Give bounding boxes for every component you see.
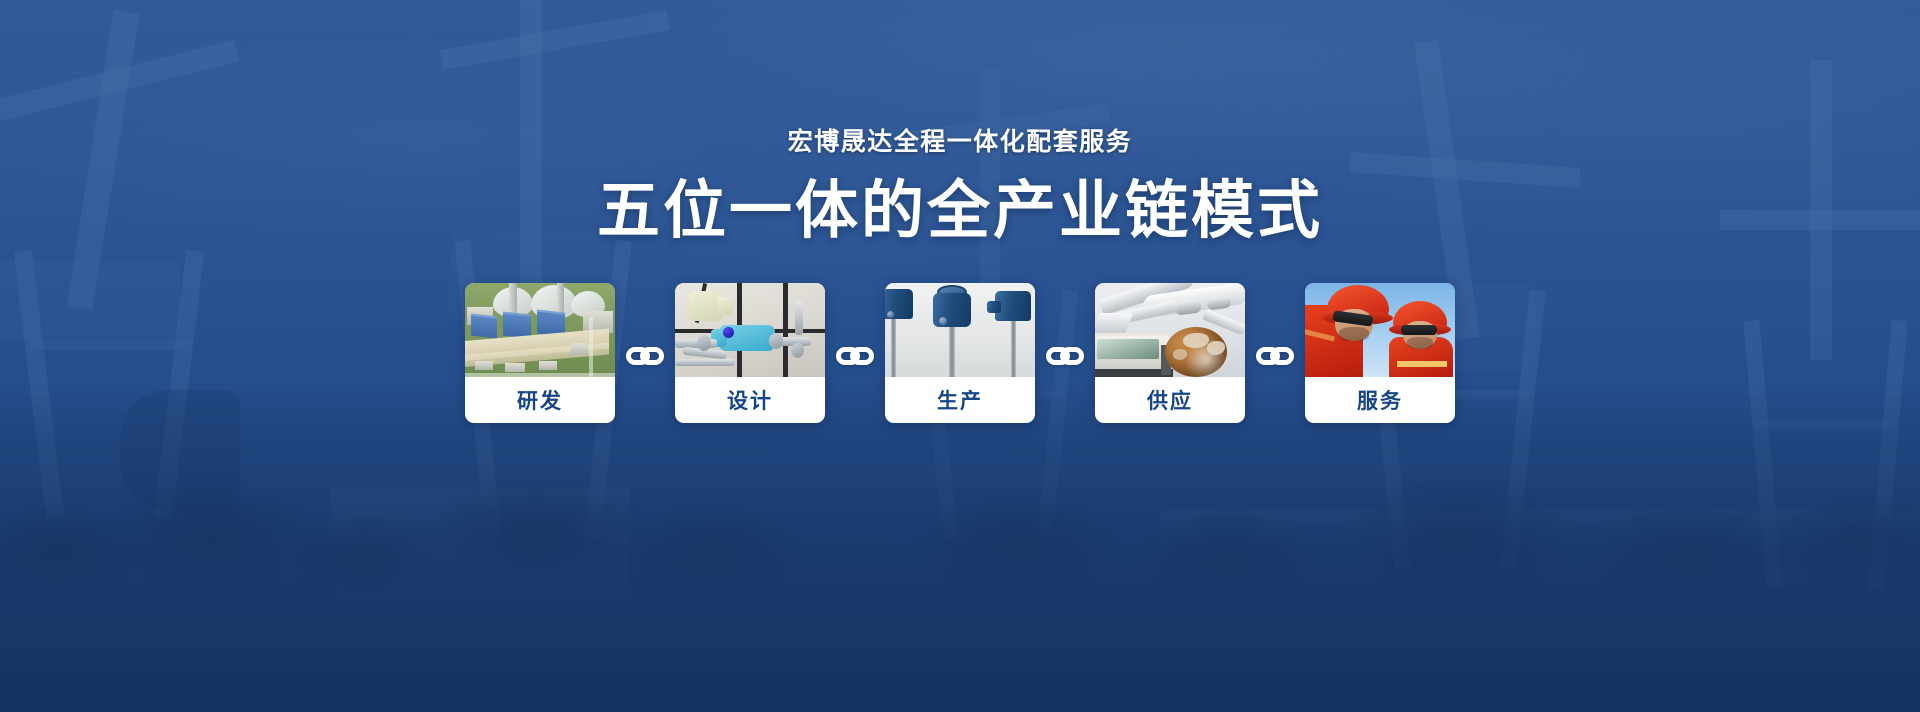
hero-banner: 宏博晟达全程一体化配套服务 五位一体的全产业链模式: [0, 0, 1920, 712]
banner-content: 宏博晟达全程一体化配套服务 五位一体的全产业链模式: [0, 0, 1920, 712]
chain-card-sheji[interactable]: 设计: [675, 283, 825, 423]
chain-card-gongying[interactable]: 供应: [1095, 283, 1245, 423]
field-workers-image: [1305, 283, 1455, 377]
chain-card-yanfa[interactable]: 研发: [465, 283, 615, 423]
chain-card-label: 设计: [675, 377, 825, 423]
chain-link-icon: [1035, 344, 1095, 368]
chain-card-label: 研发: [465, 377, 615, 423]
chain-card-label: 服务: [1305, 377, 1455, 423]
chain-link-icon: [1245, 344, 1305, 368]
cad-rendering-image: [675, 283, 825, 377]
chain-link-icon: [825, 344, 885, 368]
banner-headline: 五位一体的全产业链模式: [597, 176, 1323, 247]
banner-subtitle: 宏博晟达全程一体化配套服务: [788, 122, 1133, 158]
industrial-plant-image: [465, 283, 615, 377]
chain-card-label: 供应: [1095, 377, 1245, 423]
chain-card-fuwu[interactable]: 服务: [1305, 283, 1455, 423]
logistics-image: [1095, 283, 1245, 377]
value-chain-row: 研发: [465, 283, 1455, 423]
chain-card-label: 生产: [885, 377, 1035, 423]
sensor-instruments-image: [885, 283, 1035, 377]
chain-link-icon: [615, 344, 675, 368]
chain-card-shengchan[interactable]: 生产: [885, 283, 1035, 423]
